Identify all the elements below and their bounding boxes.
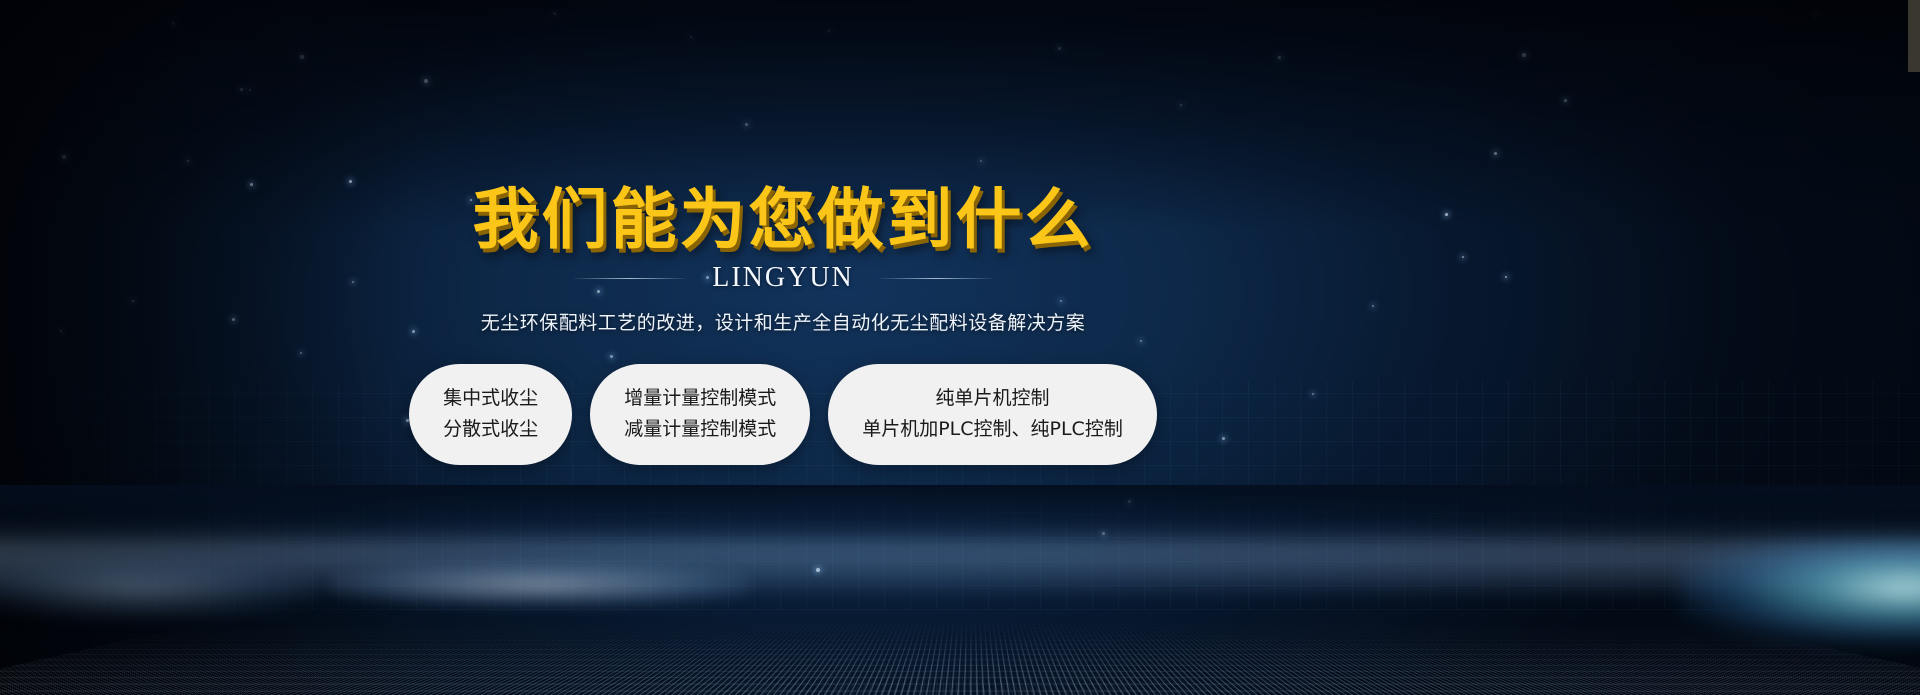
- brand-name: LINGYUN: [712, 262, 854, 294]
- page-title: 我们能为您做到什么: [0, 185, 1566, 254]
- pill-line-1: 集中式收尘: [443, 383, 538, 414]
- feature-pill-2[interactable]: 增量计量控制模式 减量计量控制模式: [590, 364, 810, 465]
- wave-right-glow: [1680, 533, 1920, 643]
- pill-line-2: 单片机加PLC控制、纯PLC控制: [862, 414, 1123, 445]
- divider-line-right: [880, 278, 992, 279]
- banner-content: 我们能为您做到什么 LINGYUN 无尘环保配料工艺的改进，设计和生产全自动化无…: [0, 0, 1566, 695]
- scrollbar-artifact: [1908, 0, 1920, 72]
- pill-line-2: 减量计量控制模式: [624, 414, 776, 445]
- feature-pill-list: 集中式收尘 分散式收尘 增量计量控制模式 减量计量控制模式 纯单片机控制 单片机…: [0, 364, 1566, 465]
- page-description: 无尘环保配料工艺的改进，设计和生产全自动化无尘配料设备解决方案: [0, 308, 1566, 335]
- pill-line-1: 增量计量控制模式: [624, 383, 776, 414]
- subtitle-row: LINGYUN: [0, 262, 1566, 294]
- feature-pill-3[interactable]: 纯单片机控制 单片机加PLC控制、纯PLC控制: [828, 364, 1157, 465]
- pill-line-2: 分散式收尘: [443, 414, 538, 445]
- hero-banner: 我们能为您做到什么 LINGYUN 无尘环保配料工艺的改进，设计和生产全自动化无…: [0, 0, 1920, 695]
- divider-line-left: [574, 278, 686, 279]
- feature-pill-1[interactable]: 集中式收尘 分散式收尘: [409, 364, 572, 465]
- pill-line-1: 纯单片机控制: [862, 383, 1123, 414]
